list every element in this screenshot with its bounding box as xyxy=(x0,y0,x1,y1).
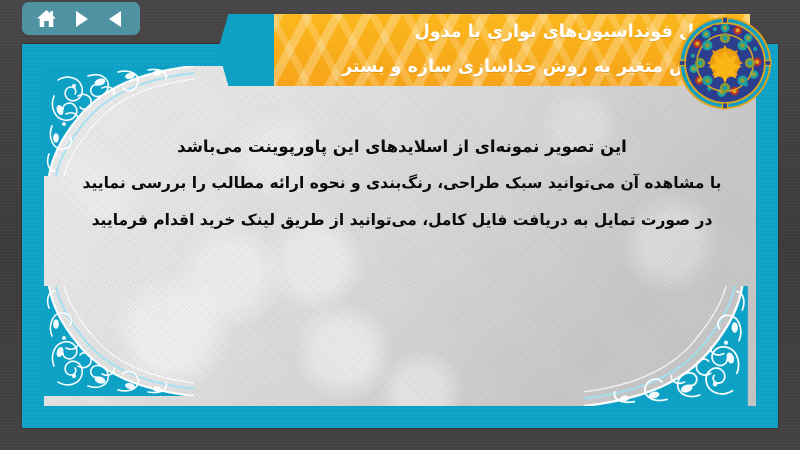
back-button[interactable] xyxy=(103,7,129,31)
home-icon xyxy=(36,9,57,28)
banner-arrow-connector xyxy=(218,14,276,86)
body-line-2: با مشاهده آن می‌توانید سبک طراحی، رنگ‌بن… xyxy=(52,165,752,202)
triangle-right-icon xyxy=(73,10,90,28)
home-button[interactable] xyxy=(33,7,59,31)
body-line-1: این تصویر نمونه‌ای از اسلایدهای این پاور… xyxy=(52,128,752,165)
title-line-2: واکنش متغیر به روش جداسازی سازه و بستر xyxy=(342,57,728,77)
forward-button[interactable] xyxy=(68,7,94,31)
slide-stage: تحلیل فونداسیون‌های نواری با مدولواکنش م… xyxy=(0,0,800,450)
islamic-medallion-icon xyxy=(678,16,772,110)
slide-body: این تصویر نمونه‌ای از اسلایدهای این پاور… xyxy=(52,128,752,239)
body-line-3: در صورت تمایل به دریافت فایل کامل، می‌تو… xyxy=(52,202,752,239)
triangle-left-icon xyxy=(107,10,124,28)
navigation-bar xyxy=(22,2,140,35)
